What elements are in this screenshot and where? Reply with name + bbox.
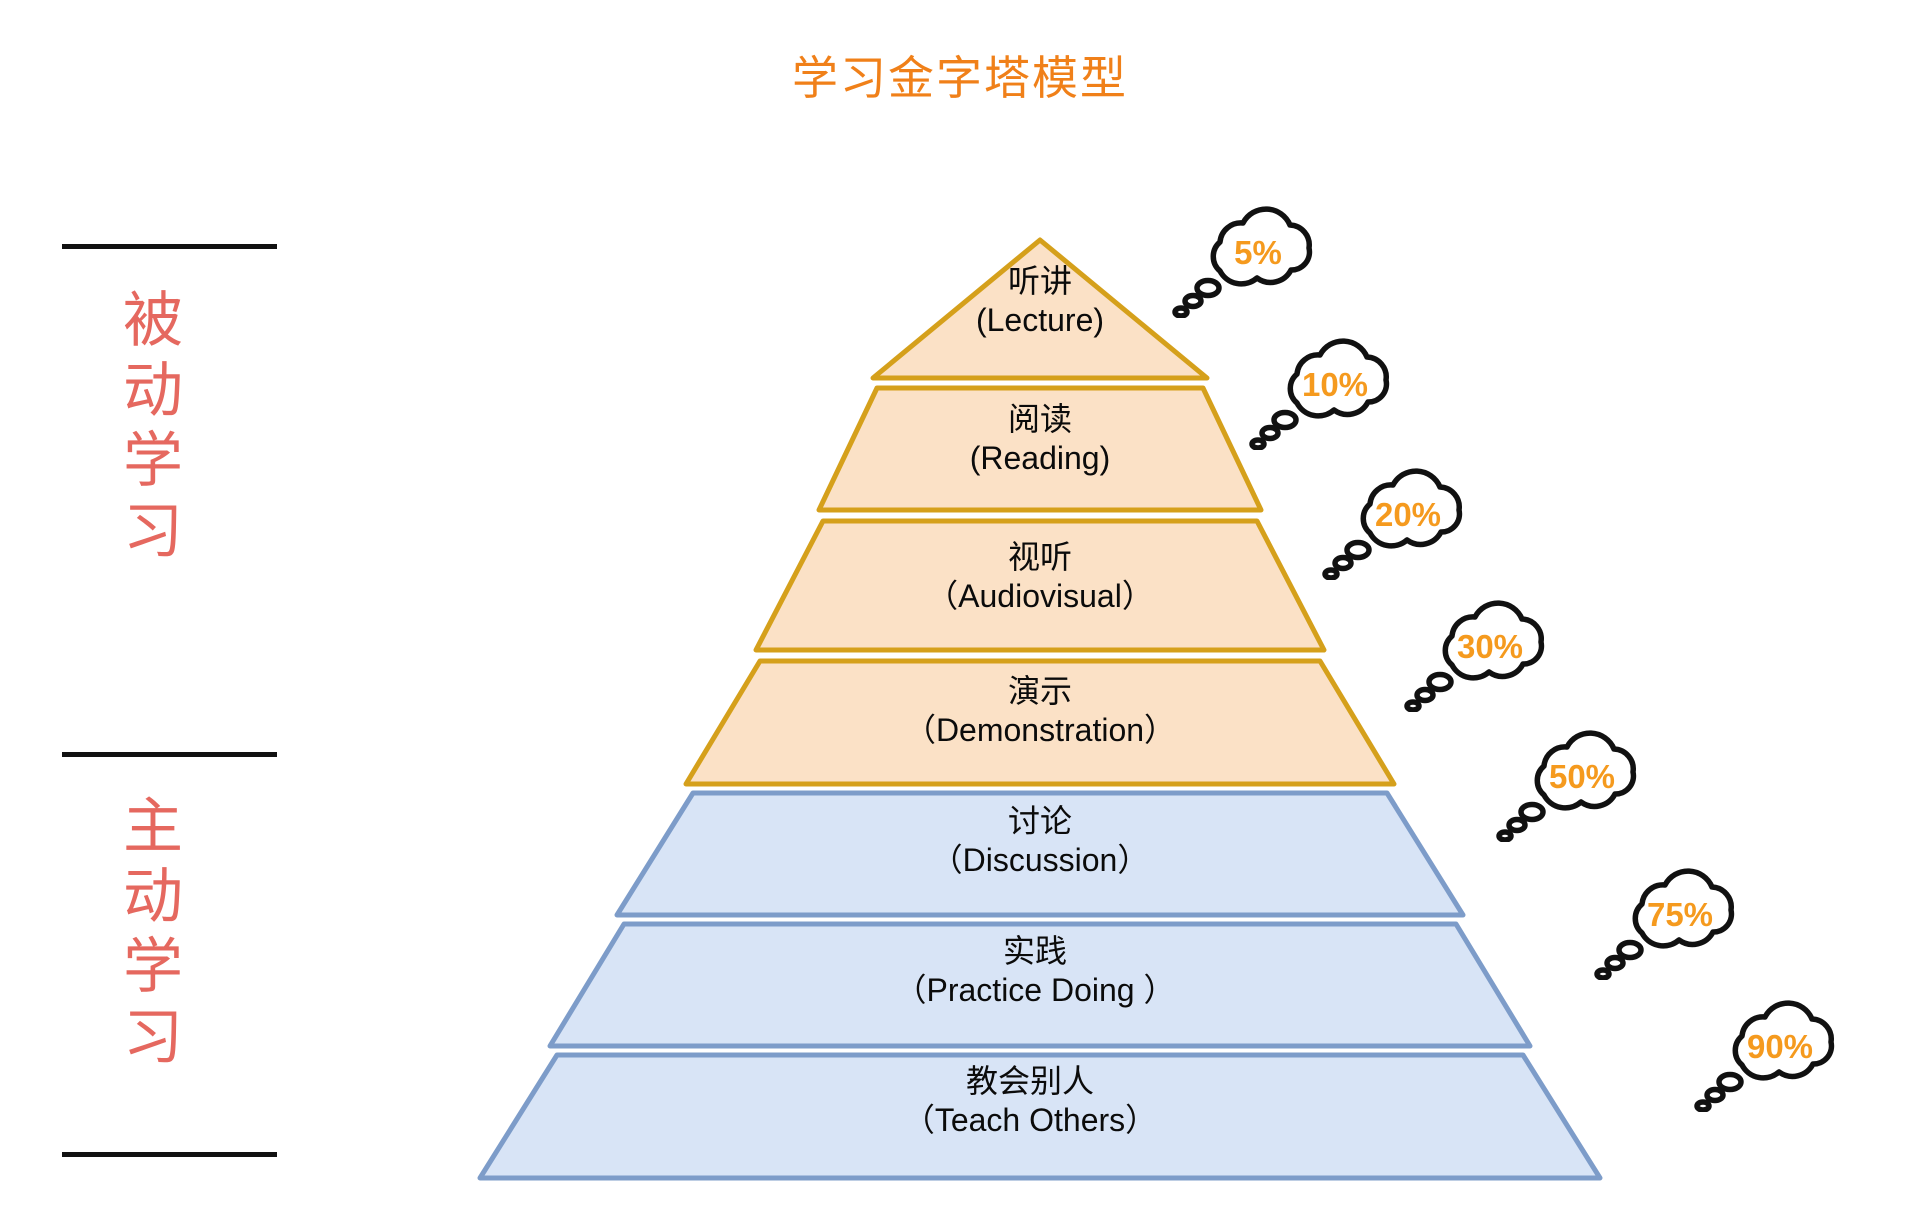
page-title: 学习金字塔模型 — [0, 42, 1920, 108]
tier-label-reading-en: (Reading) — [840, 439, 1240, 478]
cloud-icon — [1168, 198, 1348, 318]
tier-label-discussion: 讨论 （Discussion） — [840, 802, 1240, 880]
pyramid-tier-reading — [819, 388, 1261, 510]
thought-bubble-20-percent: 20% — [1318, 460, 1498, 580]
cloud-icon — [1245, 330, 1425, 450]
tier-label-reading: 阅读 (Reading) — [840, 400, 1240, 478]
tier-label-practice-doing-cn: 实践 — [835, 932, 1235, 971]
thought-bubble-10-percent: 10% — [1245, 330, 1425, 450]
percent-value-lecture: 5% — [1168, 234, 1348, 272]
divider-top — [62, 244, 277, 249]
pyramid-tier-teach-others — [480, 1055, 1600, 1178]
tier-label-teach-others: 教会别人 （Teach Others） — [830, 1062, 1230, 1140]
divider-bottom — [62, 1152, 277, 1157]
cloud-icon — [1318, 460, 1498, 580]
percent-value-discussion: 50% — [1492, 758, 1672, 796]
pyramid-tier-practice-doing — [550, 924, 1530, 1046]
percent-value-demonstration: 30% — [1400, 628, 1580, 666]
learning-pyramid-diagram: 学习金字塔模型 被动学习 主动学习 听讲 (Lecture) 阅读 (Readi… — [0, 0, 1920, 1218]
tier-label-lecture: 听讲 (Lecture) — [840, 262, 1240, 340]
divider-middle — [62, 752, 277, 757]
tier-label-reading-cn: 阅读 — [840, 400, 1240, 439]
tier-label-practice-doing-en: （Practice Doing ） — [835, 971, 1235, 1010]
tier-label-audiovisual-en: （Audiovisual） — [840, 577, 1240, 616]
thought-bubble-50-percent: 50% — [1492, 722, 1672, 842]
thought-bubble-75-percent: 75% — [1590, 860, 1770, 980]
cloud-icon — [1590, 860, 1770, 980]
cloud-icon — [1492, 722, 1672, 842]
tier-label-audiovisual-cn: 视听 — [840, 538, 1240, 577]
thought-bubble-90-percent: 90% — [1690, 992, 1870, 1112]
tier-label-audiovisual: 视听 （Audiovisual） — [840, 538, 1240, 616]
tier-label-demonstration-cn: 演示 — [840, 672, 1240, 711]
tier-label-practice-doing: 实践 （Practice Doing ） — [835, 932, 1235, 1010]
legend-label-passive-learning: 被动学习 — [107, 286, 199, 567]
tier-label-demonstration: 演示 （Demonstration） — [840, 672, 1240, 750]
pyramid-tier-lecture — [873, 240, 1207, 378]
tier-label-teach-others-cn: 教会别人 — [830, 1062, 1230, 1101]
pyramid-tier-discussion — [617, 793, 1463, 915]
thought-bubble-30-percent: 30% — [1400, 592, 1580, 712]
percent-value-audiovisual: 20% — [1318, 496, 1498, 534]
cloud-icon — [1400, 592, 1580, 712]
legend-label-active-learning: 主动学习 — [107, 792, 199, 1073]
percent-value-practice-doing: 75% — [1590, 896, 1770, 934]
percent-value-reading: 10% — [1245, 366, 1425, 404]
percent-value-teach-others: 90% — [1690, 1028, 1870, 1066]
pyramid-tier-demonstration — [686, 661, 1394, 784]
tier-label-lecture-cn: 听讲 — [840, 262, 1240, 301]
pyramid-tier-audiovisual — [756, 521, 1324, 650]
tier-label-teach-others-en: （Teach Others） — [830, 1101, 1230, 1140]
tier-label-demonstration-en: （Demonstration） — [840, 711, 1240, 750]
cloud-icon — [1690, 992, 1870, 1112]
tier-label-discussion-cn: 讨论 — [840, 802, 1240, 841]
pyramid-shapes — [0, 0, 1920, 1218]
tier-label-discussion-en: （Discussion） — [840, 841, 1240, 880]
thought-bubble-5-percent: 5% — [1168, 198, 1348, 318]
tier-label-lecture-en: (Lecture) — [840, 301, 1240, 340]
